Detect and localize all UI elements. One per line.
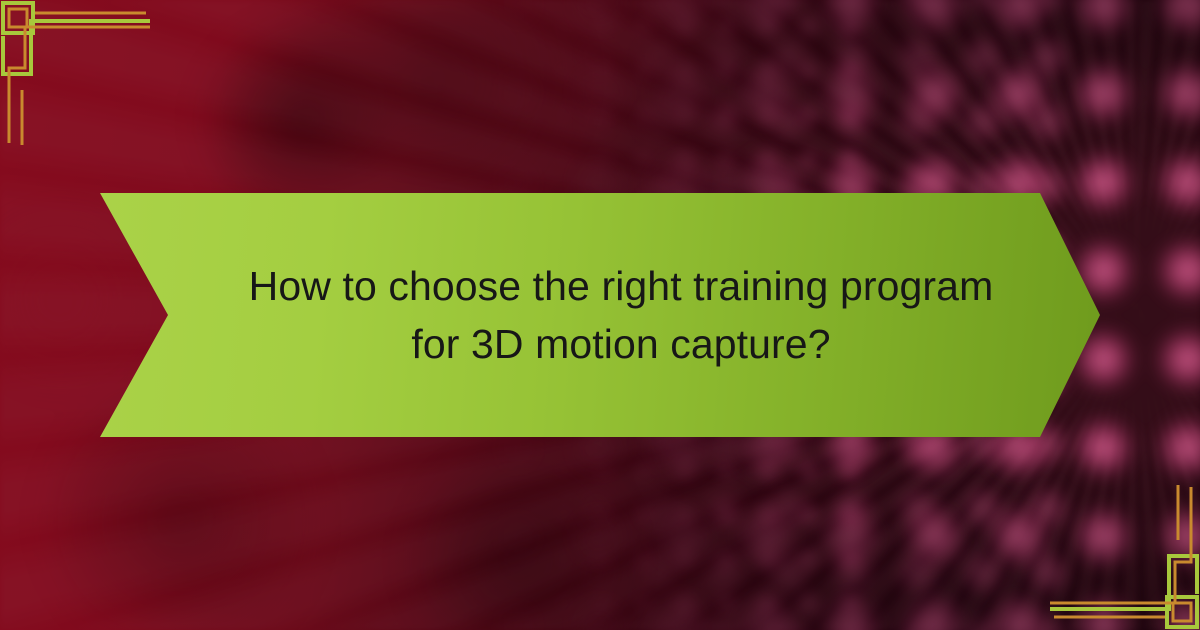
corner-bracket-icon: [1050, 480, 1200, 630]
corner-bracket-icon: [0, 0, 150, 150]
poster-canvas: How to choose the right training program…: [0, 0, 1200, 630]
headline-text: How to choose the right training program…: [197, 257, 1004, 373]
corner-ornament-bottom-right: [1050, 480, 1200, 630]
corner-ornament-top-left: [0, 0, 150, 150]
headline-banner: How to choose the right training program…: [100, 193, 1100, 437]
